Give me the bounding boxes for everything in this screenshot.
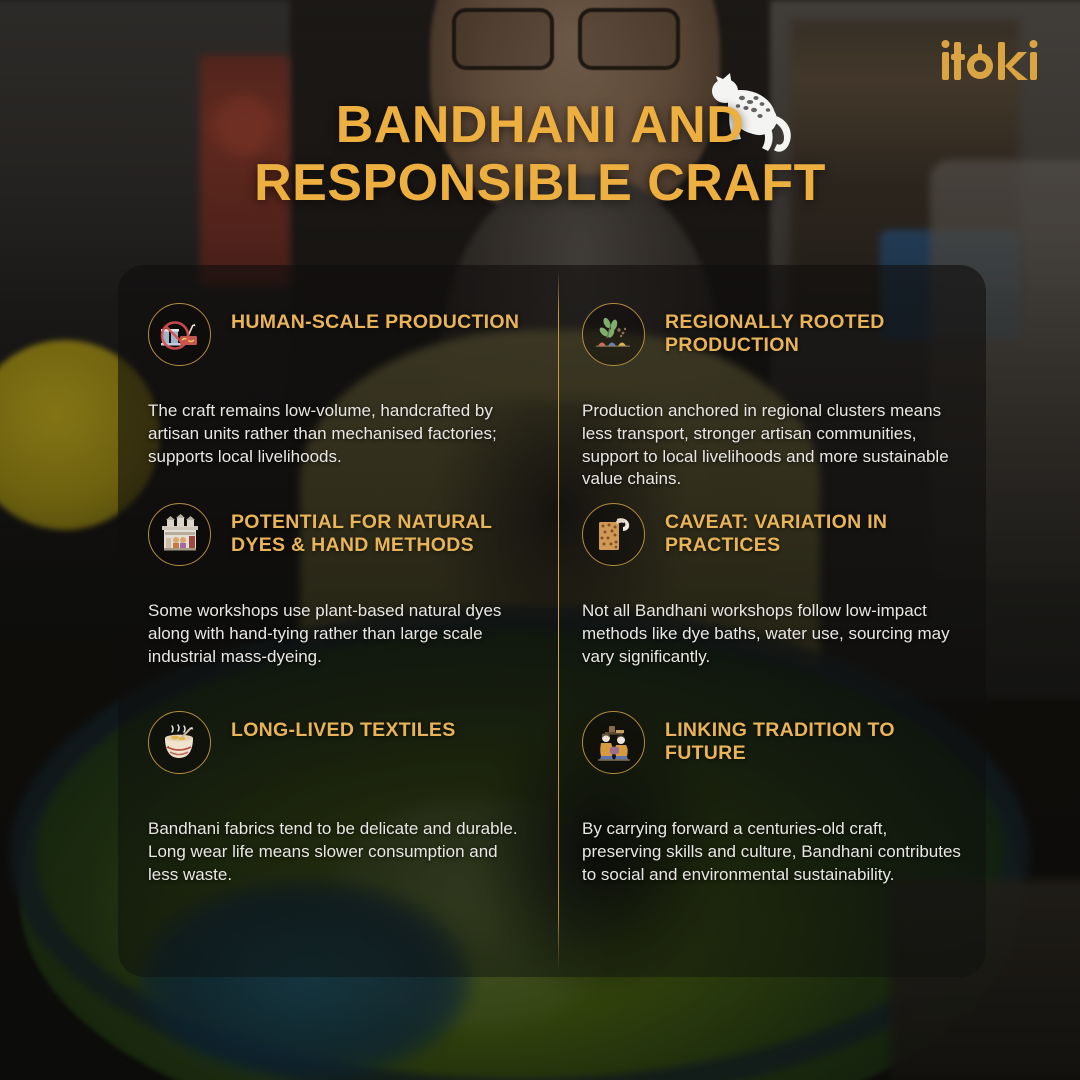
page-title-line-2: RESPONSIBLE CRAFT [0, 154, 1080, 212]
natural-dye-leaves-icon [582, 303, 645, 366]
card-caveat-variation-in-practices: CAVEAT: VARIATION IN PRACTICES Not all B… [558, 465, 986, 673]
benefits-grid: HUMAN-SCALE PRODUCTION The craft remains… [118, 265, 986, 977]
card-header: REGIONALLY ROOTED PRODUCTION [582, 303, 970, 366]
card-header: HUMAN-SCALE PRODUCTION [148, 303, 532, 366]
card-body: Some workshops use plant-based natural d… [148, 600, 532, 668]
card-title: HUMAN-SCALE PRODUCTION [231, 303, 519, 334]
page-title-line-1: BANDHANI AND [0, 96, 1080, 154]
card-long-lived-textiles: LONG-LIVED TEXTILES Bandhani fabrics ten… [118, 673, 558, 977]
card-header: LONG-LIVED TEXTILES [148, 711, 532, 774]
no-factory-icon [148, 303, 211, 366]
card-body: Bandhani fabrics tend to be delicate and… [148, 818, 532, 886]
card-body: By carrying forward a centuries-old craf… [582, 818, 970, 886]
card-linking-tradition-to-future: LINKING TRADITION TO FUTURE By carrying … [558, 673, 986, 977]
card-title: LINKING TRADITION TO FUTURE [665, 711, 970, 766]
card-title: LONG-LIVED TEXTILES [231, 711, 456, 742]
hand-holding-fabric-icon [582, 503, 645, 566]
card-body: The craft remains low-volume, handcrafte… [148, 400, 532, 468]
card-header: POTENTIAL FOR NATURAL DYES & HAND METHOD… [148, 503, 532, 566]
card-title: REGIONALLY ROOTED PRODUCTION [665, 303, 970, 358]
card-regionally-rooted-production: REGIONALLY ROOTED PRODUCTION Production … [558, 265, 986, 465]
card-body: Not all Bandhani workshops follow low-im… [582, 600, 970, 668]
card-header: CAVEAT: VARIATION IN PRACTICES [582, 503, 970, 566]
two-artisans-icon [582, 711, 645, 774]
card-potential-for-natural-dyes: POTENTIAL FOR NATURAL DYES & HAND METHOD… [118, 465, 558, 673]
page-title: BANDHANI AND RESPONSIBLE CRAFT [0, 96, 1080, 212]
card-header: LINKING TRADITION TO FUTURE [582, 711, 970, 774]
card-title: CAVEAT: VARIATION IN PRACTICES [665, 503, 970, 558]
brand-logo[interactable] [940, 38, 1044, 82]
craft-workshop-building-icon [148, 503, 211, 566]
brand-logo-wordmark [940, 38, 1044, 82]
card-title: POTENTIAL FOR NATURAL DYES & HAND METHOD… [231, 503, 532, 558]
steaming-dye-pot-icon [148, 711, 211, 774]
card-human-scale-production: HUMAN-SCALE PRODUCTION The craft remains… [118, 265, 558, 465]
